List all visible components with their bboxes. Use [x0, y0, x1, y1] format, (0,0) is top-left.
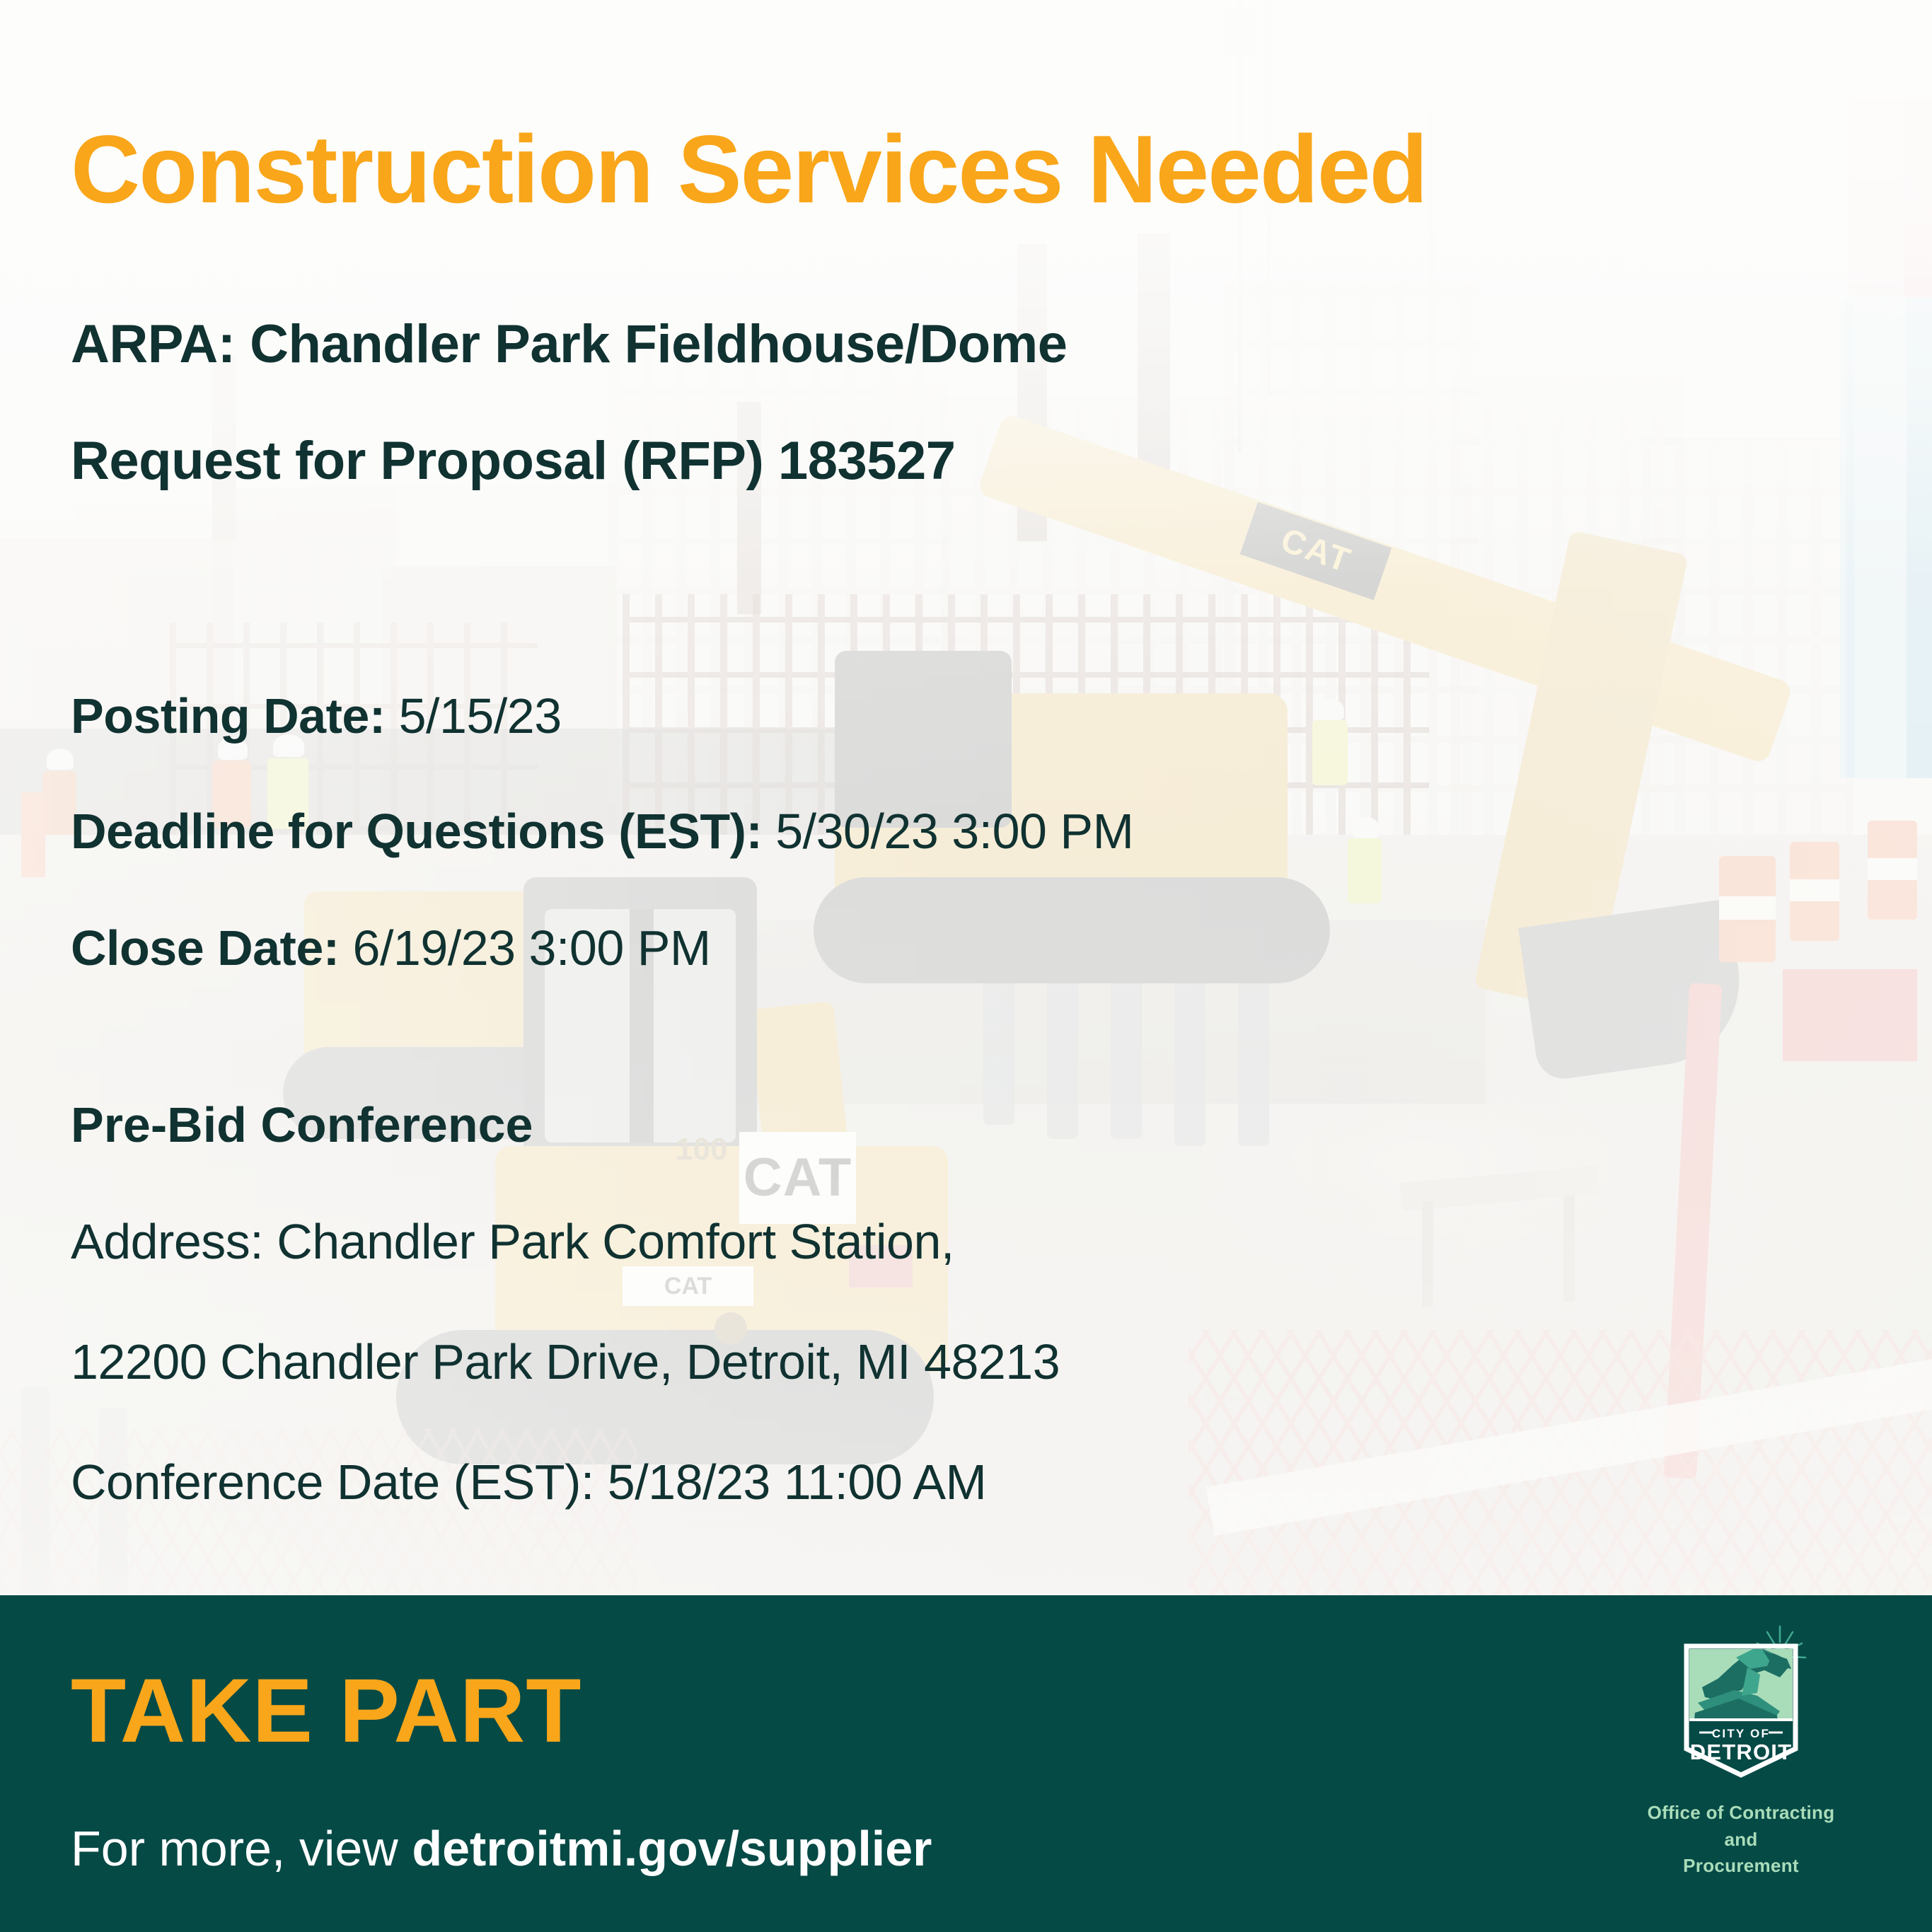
- office-name-line-2: and: [1635, 1827, 1847, 1853]
- posting-date-label: Posting Date:: [71, 688, 386, 744]
- city-of-detroit-shield-icon: CITY OF DETROIT: [1674, 1625, 1808, 1784]
- posting-date-value: 5/15/23: [386, 688, 562, 744]
- project-title: ARPA: Chandler Park Fieldhouse/Dome: [71, 313, 1067, 375]
- page-title: Construction Services Needed: [71, 120, 1427, 219]
- more-info-line: For more, view detroitmi.gov/supplier: [71, 1820, 932, 1877]
- question-deadline-label: Deadline for Questions (EST):: [71, 804, 762, 859]
- svg-text:DETROIT: DETROIT: [1690, 1740, 1792, 1764]
- more-info-prefix: For more, view: [71, 1821, 412, 1876]
- prebid-address-line-2: 12200 Chandler Park Drive, Detroit, MI 4…: [71, 1334, 1060, 1390]
- take-part-heading: TAKE PART: [71, 1666, 582, 1757]
- solicitation-number: Request for Proposal (RFP) 183527: [71, 430, 956, 492]
- supplier-portal-link[interactable]: detroitmi.gov/supplier: [412, 1821, 932, 1876]
- office-name: Office of Contracting and Procurement: [1635, 1800, 1847, 1880]
- prebid-address-line-1: Address: Chandler Park Comfort Station,: [71, 1213, 954, 1270]
- footer-bar: TAKE PART For more, view detroitmi.gov/s…: [0, 1595, 1932, 1932]
- office-name-line-3: Procurement: [1635, 1853, 1847, 1880]
- svg-text:CITY OF: CITY OF: [1712, 1727, 1770, 1740]
- prebid-conference-date: Conference Date (EST): 5/18/23 11:00 AM: [71, 1454, 986, 1510]
- prebid-conference-heading: Pre-Bid Conference: [71, 1097, 533, 1153]
- posting-date-row: Posting Date: 5/15/23: [71, 688, 562, 744]
- close-date-value: 6/19/23 3:00 PM: [340, 920, 711, 976]
- close-date-label: Close Date:: [71, 920, 340, 976]
- poster-content: Construction Services Needed ARPA: Chand…: [0, 0, 1932, 1595]
- poster-canvas: CAT 100 CAT CAT: [0, 0, 1932, 1932]
- close-date-row: Close Date: 6/19/23 3:00 PM: [71, 920, 711, 976]
- question-deadline-value: 5/30/23 3:00 PM: [762, 804, 1133, 859]
- city-of-detroit-lockup: CITY OF DETROIT Office of Contracting an…: [1635, 1625, 1847, 1880]
- question-deadline-row: Deadline for Questions (EST): 5/30/23 3:…: [71, 803, 1133, 860]
- office-name-line-1: Office of Contracting: [1635, 1800, 1847, 1827]
